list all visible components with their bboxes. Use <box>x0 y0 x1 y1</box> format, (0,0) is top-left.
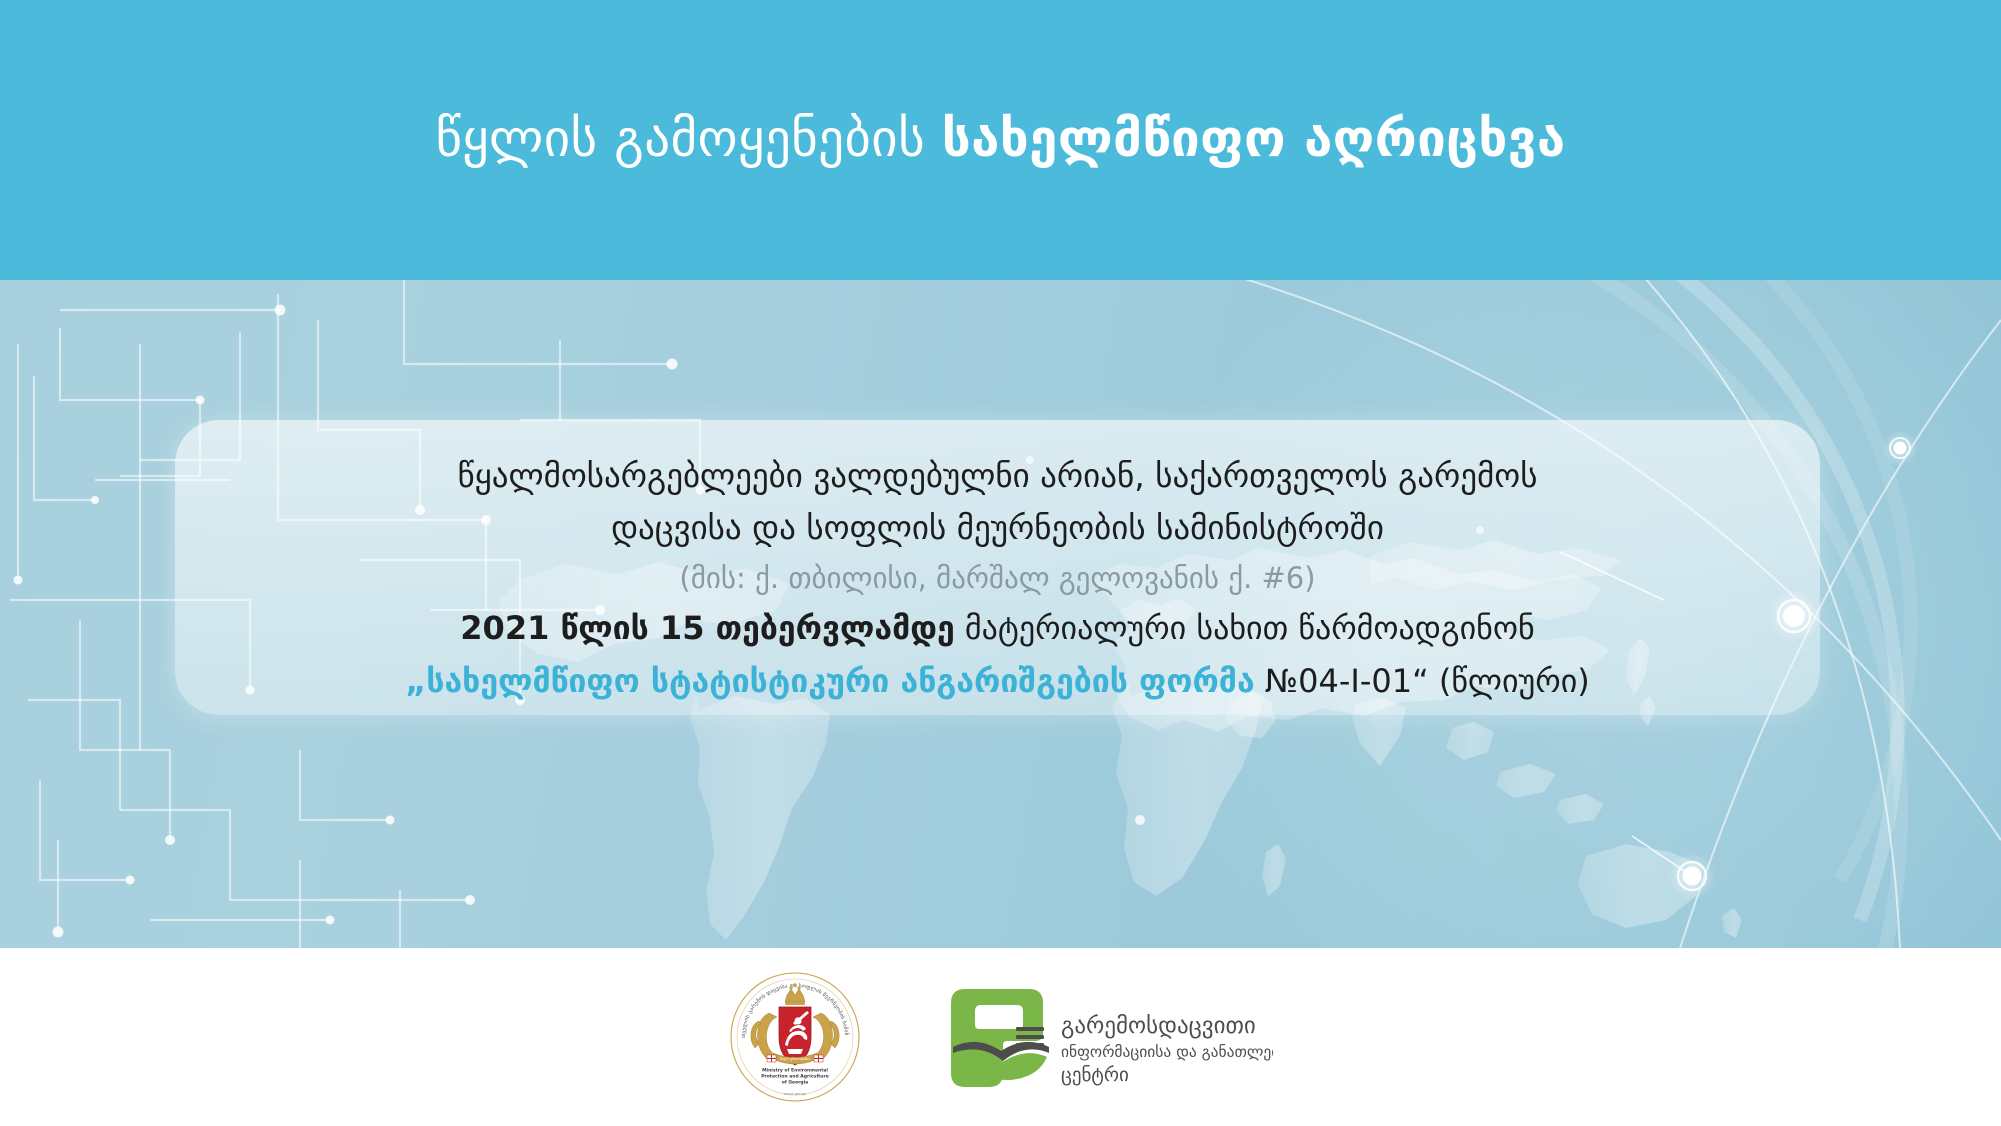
form-reference-line: „სახელმწიფო სტატისტიკური ანგარიშგების ფო… <box>245 655 1750 707</box>
form-code: №04-I-01“ (წლიური) <box>1265 662 1590 700</box>
quote-open: „ <box>405 662 426 700</box>
header-band: წყლის გამოყენების სახელმწიფო აღრიცხვა <box>0 0 2001 280</box>
ministry-emblem-icon: საქართველოს გარემოს დაცვისა და სოფლის მე… <box>729 971 861 1103</box>
form-name: სახელმწიფო სტატისტიკური ანგარიშგების ფორ… <box>426 662 1254 700</box>
geic-logo: გარემოსდაცვითი ინფორმაციისა და განათლები… <box>943 981 1273 1093</box>
page-title: წყლის გამოყენების სახელმწიფო აღრიცხვა <box>435 111 1565 170</box>
emblem-name-en-2: Protection and Agriculture <box>761 1074 829 1080</box>
deadline-line: 2021 წლის 15 თებერვლამდე მატერიალური სახ… <box>245 602 1750 655</box>
geic-mark-notch <box>975 1005 1023 1029</box>
geic-logo-icon: გარემოსდაცვითი ინფორმაციისა და განათლები… <box>943 981 1273 1093</box>
slide-root: წყლის გამოყენების სახელმწიფო აღრიცხვა <box>0 0 2001 1126</box>
emblem-motto: ძალა ერთობაშია <box>779 1057 809 1061</box>
emblem-url: mepa.gov.ge <box>784 1092 806 1096</box>
geic-name-line-1: გარემოსდაცვითი <box>1061 1013 1256 1039</box>
deadline-date: 2021 წლის 15 თებერვლამდე <box>460 609 954 647</box>
ministry-logo: საქართველოს გარემოს დაცვისა და სოფლის მე… <box>729 971 861 1103</box>
page-title-light: წყლის გამოყენების <box>435 110 925 169</box>
deadline-rest: მატერიალური სახით წარმოადგინონ <box>965 609 1535 647</box>
geic-name-line-2: ინფორმაციისა და განათლების <box>1061 1043 1273 1061</box>
obligation-line-2: დაცვისა და სოფლის მეურნეობის სამინისტროშ… <box>245 502 1750 554</box>
ministry-address: (მის: ქ. თბილისი, მარშალ გელოვანის ქ. #6… <box>245 554 1750 602</box>
footer-logos: საქართველოს გარემოს დაცვისა და სოფლის მე… <box>0 948 2001 1126</box>
geic-name-line-3: ცენტრი <box>1061 1064 1129 1086</box>
geic-bars-icon <box>1016 1027 1044 1047</box>
emblem-name-en-1: Ministry of Environmental <box>762 1068 828 1074</box>
page-title-bold: სახელმწიფო აღრიცხვა <box>942 110 1566 169</box>
emblem-name-en-3: of Georgia <box>781 1080 807 1086</box>
content-card-text: წყალმოსარგებლეები ვალდებულნი არიან, საქა… <box>175 420 1820 715</box>
obligation-line-1: წყალმოსარგებლეები ვალდებულნი არიან, საქა… <box>245 450 1750 502</box>
body-stage: წყალმოსარგებლეები ვალდებულნი არიან, საქა… <box>0 280 2001 948</box>
